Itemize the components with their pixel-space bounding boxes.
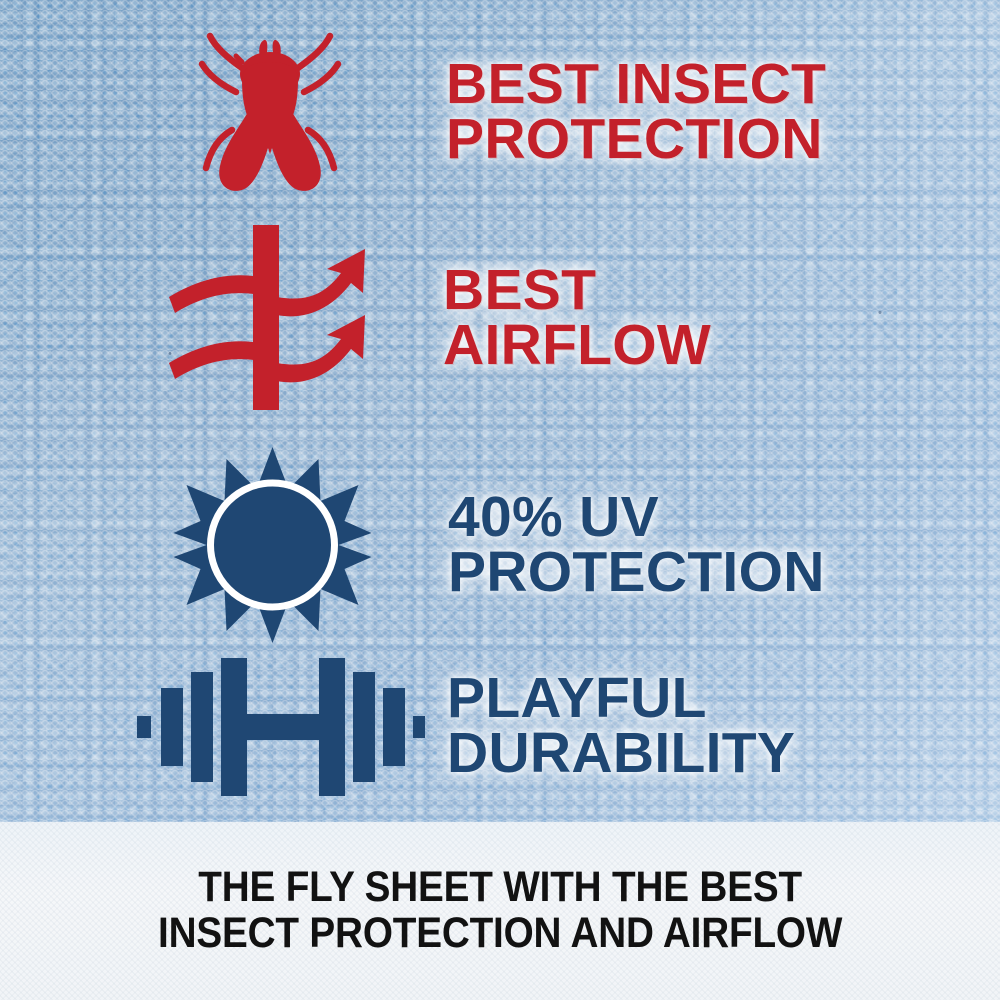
airflow-arrows-icon — [165, 225, 375, 410]
feature-row-durability: PLAYFUL DURABILITY — [135, 648, 995, 803]
fly-icon — [180, 22, 360, 202]
feature-row-uv-protection: 40% UV PROTECTION — [165, 445, 985, 645]
infographic-canvas: BEST INSECT PROTECTION BEST AIRFLOW — [0, 0, 1000, 1000]
feature-row-airflow: BEST AIRFLOW — [165, 225, 985, 410]
feature-label-airflow: BEST AIRFLOW — [443, 263, 711, 372]
feature-row-insect-protection: BEST INSECT PROTECTION — [180, 22, 980, 202]
feature-label-durability: PLAYFUL DURABILITY — [447, 671, 795, 780]
caption-band: THE FLY SHEET WITH THE BEST INSECT PROTE… — [0, 822, 1000, 1000]
sun-uv-icon — [165, 445, 380, 645]
caption-text: THE FLY SHEET WITH THE BEST INSECT PROTE… — [158, 865, 842, 956]
feature-label-insect-protection: BEST INSECT PROTECTION — [446, 57, 826, 166]
feature-label-uv-protection: 40% UV PROTECTION — [448, 490, 825, 599]
dumbbell-icon — [135, 648, 425, 803]
